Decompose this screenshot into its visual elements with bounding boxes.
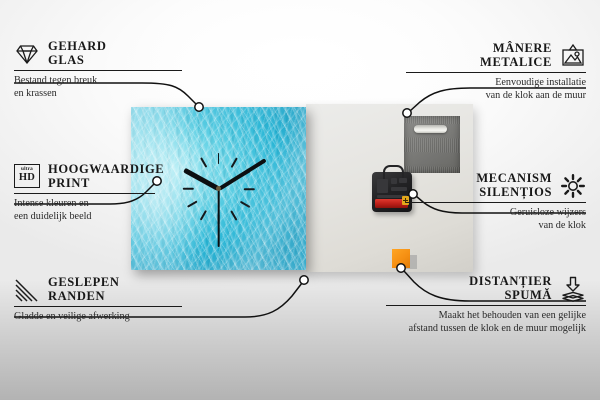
mechanism-detail	[377, 179, 388, 193]
picture-hanger-icon	[560, 43, 586, 69]
callout-title: MÂNERE METALICE	[480, 42, 552, 69]
clock-second-hand	[218, 189, 220, 247]
spacer-arrow-icon	[560, 276, 586, 302]
callout-divider	[14, 306, 182, 307]
callout-divider	[14, 70, 182, 71]
callout-divider	[14, 193, 155, 194]
mechanism-detail	[391, 187, 407, 191]
callout-mecanism-silentios: MECANISM SILENȚIOS Geruisloze wijzers va…	[406, 172, 586, 233]
callout-description: Bestand tegen breuk en krassen	[14, 75, 194, 100]
callout-divider	[386, 305, 586, 306]
callout-divider	[406, 72, 586, 73]
callout-manere-metalice: MÂNERE METALICE Eenvoudige installatie v…	[406, 42, 586, 103]
metal-hanger-plate	[404, 116, 460, 173]
callout-header: MECANISM SILENȚIOS	[406, 172, 586, 199]
callout-title: GESLEPEN RANDEN	[48, 276, 120, 303]
callout-distantier-spuma: DISTANȚIER SPUMĂ Maakt het behouden van …	[386, 275, 586, 336]
callout-title: HOOGWAARDIGE PRINT	[48, 163, 164, 190]
product-infographic: GEHARD GLAS Bestand tegen breuk en krass…	[0, 0, 600, 400]
callout-description: Maakt het behouden van een gelijke afsta…	[386, 310, 586, 335]
callout-hoogwaardige-print: ultra HD HOOGWAARDIGE PRINT Intense kleu…	[14, 163, 194, 224]
callout-header: GEHARD GLAS	[14, 40, 194, 67]
clock-minute-hand	[218, 158, 267, 190]
callout-description: Intense kleuren en een duidelijk beeld	[14, 198, 194, 223]
diamond-icon	[14, 41, 40, 67]
ultra-hd-icon: ultra HD	[14, 164, 40, 190]
callout-header: DISTANȚIER SPUMĂ	[386, 275, 586, 302]
callout-title: MECANISM SILENȚIOS	[476, 172, 552, 199]
callout-header: MÂNERE METALICE	[406, 42, 586, 69]
battery	[375, 199, 408, 208]
mechanism-hanger-loop	[383, 165, 404, 179]
beveled-edge-icon	[14, 277, 40, 303]
callout-divider	[406, 202, 586, 203]
clock-center-cap	[216, 186, 221, 191]
callout-description: Gladde en veilige afwerking	[14, 311, 194, 324]
hanger-slot	[414, 125, 447, 133]
mechanism-detail	[391, 178, 397, 184]
callout-title: DISTANȚIER SPUMĂ	[469, 275, 552, 302]
callout-header: GESLEPEN RANDEN	[14, 276, 194, 303]
callout-title: GEHARD GLAS	[48, 40, 106, 67]
callout-header: ultra HD HOOGWAARDIGE PRINT	[14, 163, 194, 190]
callout-gehard-glas: GEHARD GLAS Bestand tegen breuk en krass…	[14, 40, 194, 101]
callout-description: Eenvoudige installatie van de klok aan d…	[406, 77, 586, 102]
foam-spacer	[392, 249, 410, 268]
callout-description: Geruisloze wijzers van de klok	[406, 207, 586, 232]
callout-geslepen-randen: GESLEPEN RANDEN Gladde en veilige afwerk…	[14, 276, 194, 324]
gear-icon	[560, 173, 586, 199]
